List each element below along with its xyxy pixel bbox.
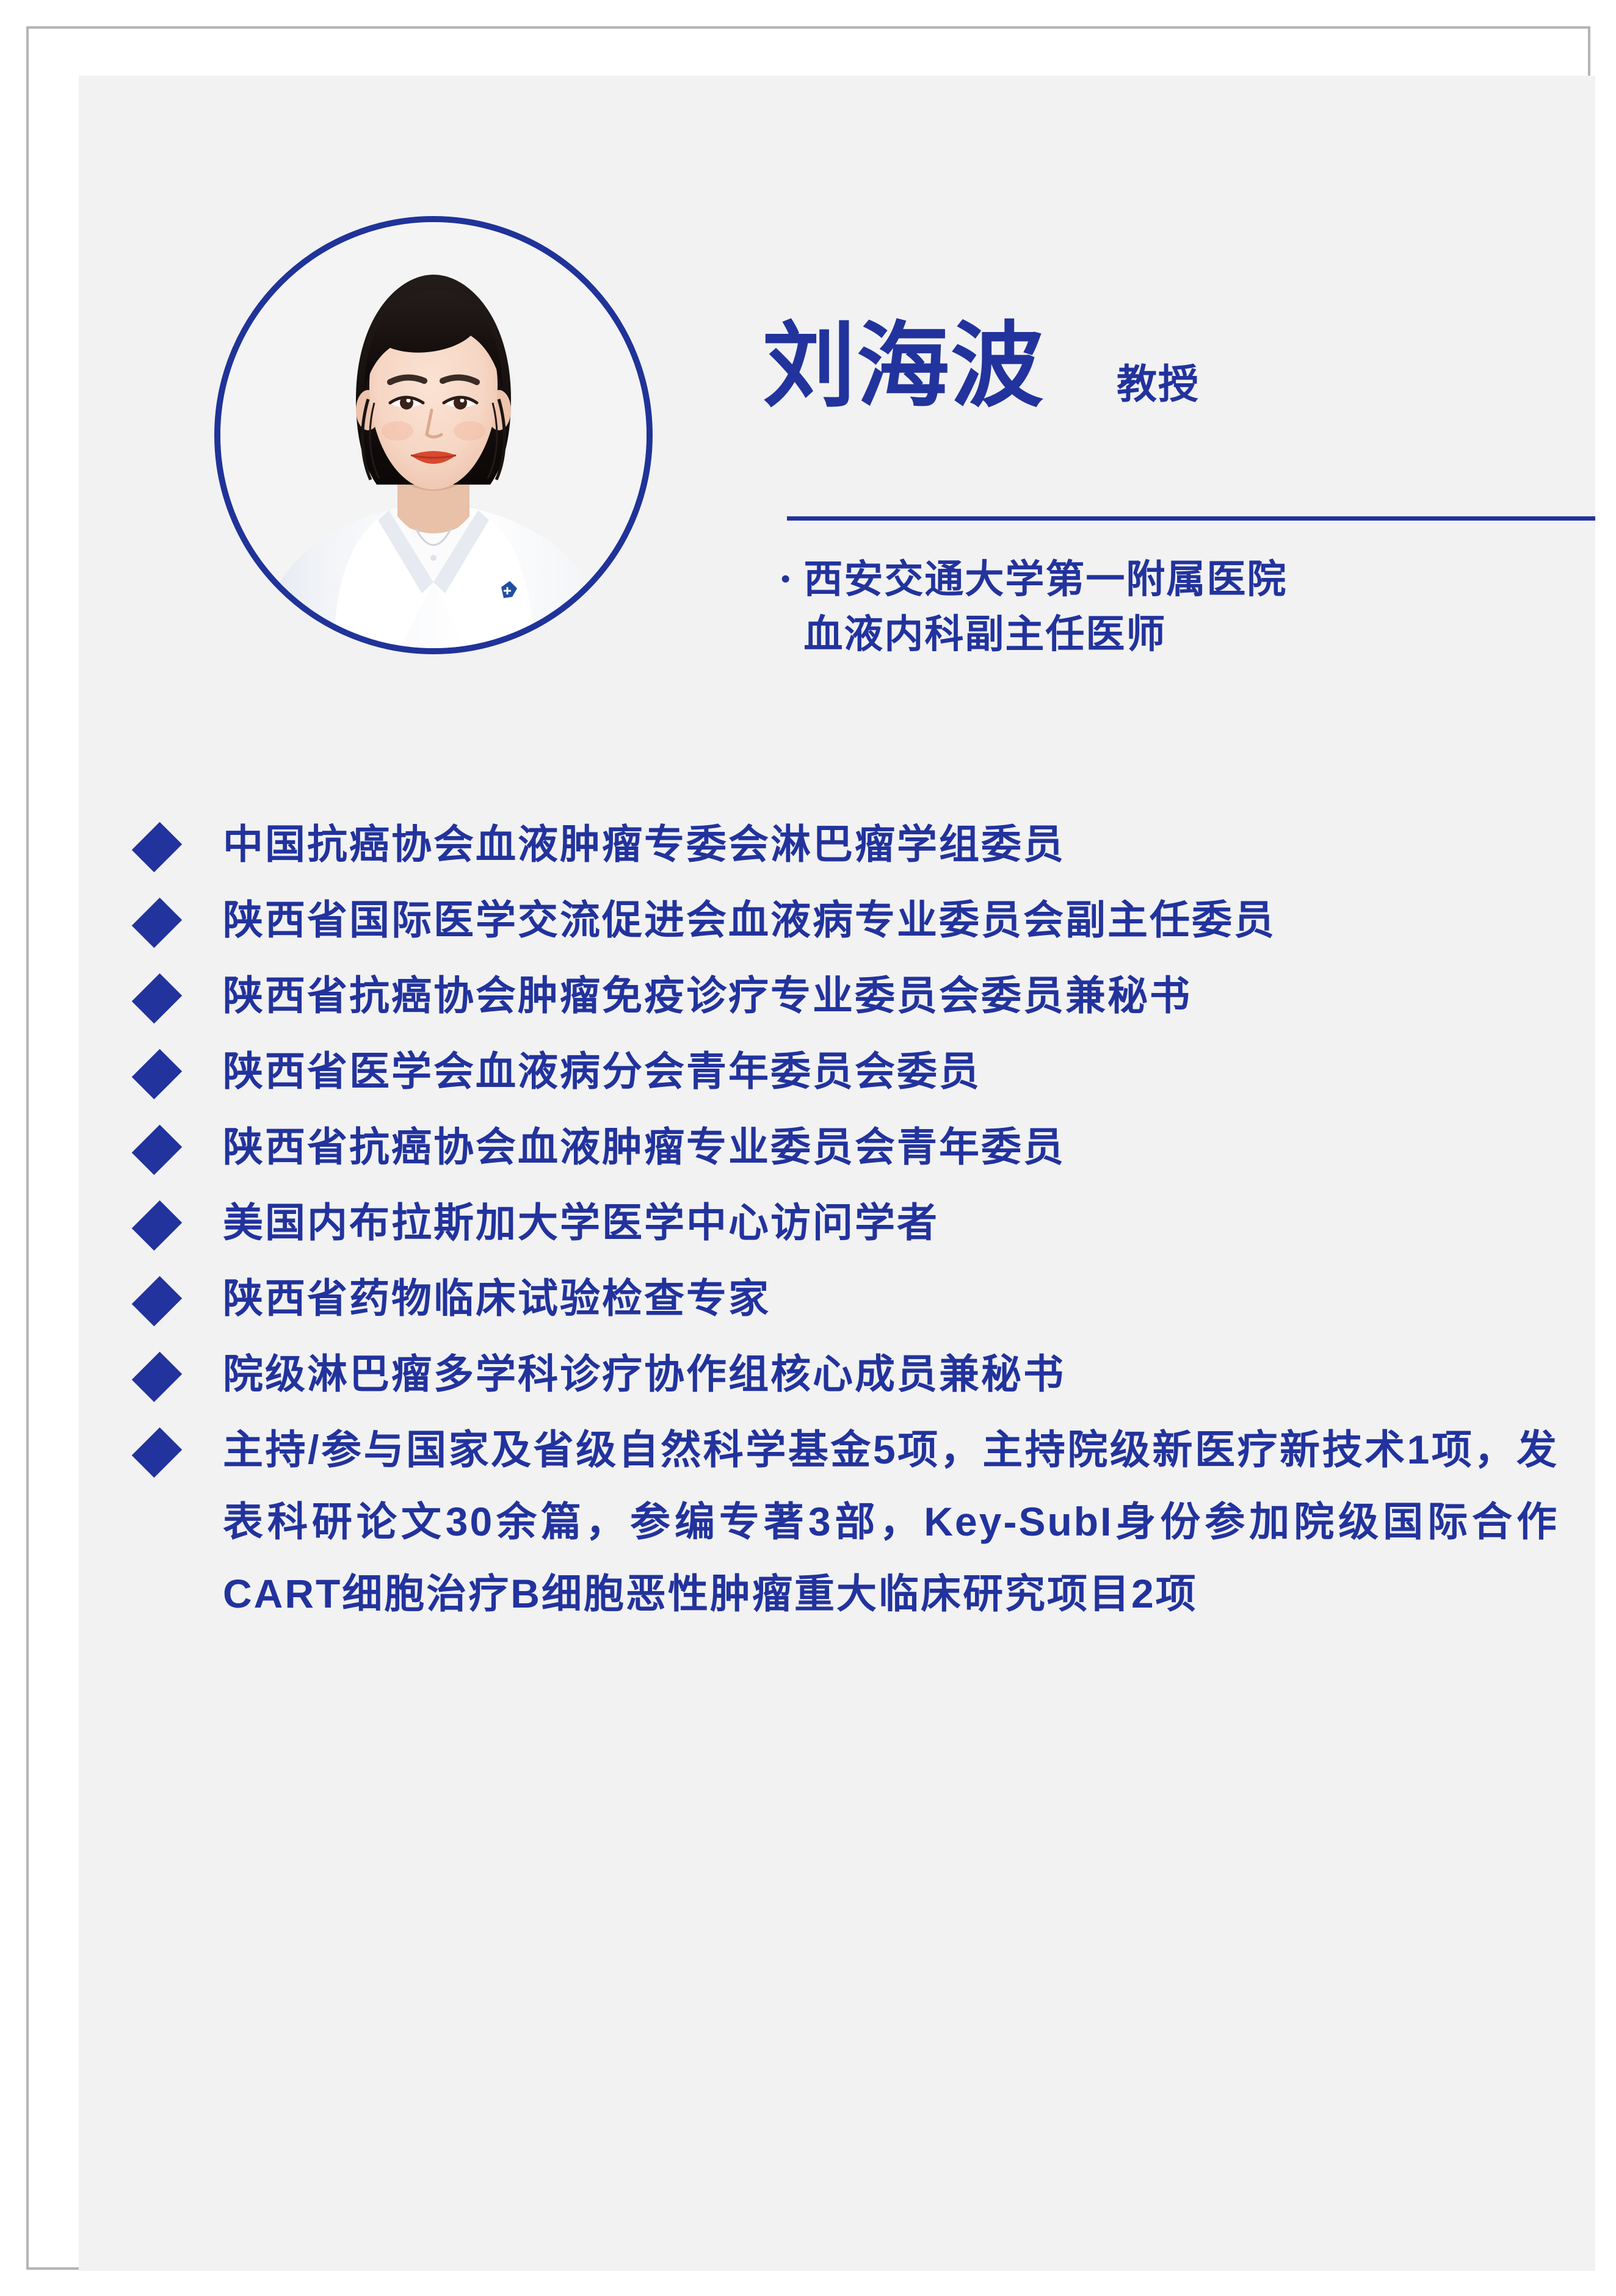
name-row: 刘海波 教授	[763, 320, 1574, 485]
diamond-bullet-icon	[132, 822, 182, 872]
diamond-bullet-icon	[132, 898, 182, 948]
doctor-portrait-photo	[214, 216, 653, 654]
credential-list: 中国抗癌协会血液肿瘤专委会淋巴瘤学组委员 陕西省国际医学交流促进会血液病专业委员…	[79, 808, 1595, 1633]
name-block: 刘海波 教授 • 西安交通大学第一附属医院 血液内科副主任医师	[763, 320, 1574, 485]
credential-text: 陕西省抗癌协会肿瘤免疫诊疗专业委员会委员兼秘书	[223, 959, 1595, 1031]
list-item: 陕西省抗癌协会肿瘤免疫诊疗专业委员会委员兼秘书	[79, 959, 1595, 1031]
affiliation-block: • 西安交通大学第一附属医院 血液内科副主任医师	[781, 552, 1287, 662]
credential-text: 院级淋巴瘤多学科诊疗协作组核心成员兼秘书	[223, 1338, 1595, 1410]
credential-text: 主持/参与国家及省级自然科学基金5项，主持院级新医疗新技术1项，发表科研论文30…	[223, 1413, 1595, 1630]
doctor-rank-title: 教授	[1117, 364, 1200, 404]
list-item: 院级淋巴瘤多学科诊疗协作组核心成员兼秘书	[79, 1338, 1595, 1410]
list-item: 陕西省医学会血液病分会青年委员会委员	[79, 1035, 1595, 1107]
doctor-profile-card: 刘海波 教授 • 西安交通大学第一附属医院 血液内科副主任医师 中国抗癌协会血液…	[79, 76, 1595, 2271]
name-divider-rule	[787, 516, 1595, 521]
doctor-name: 刘海波	[763, 320, 1045, 413]
diamond-bullet-icon	[132, 973, 182, 1023]
diamond-bullet-icon	[132, 1276, 182, 1326]
list-item: 陕西省抗癌协会血液肿瘤专业委员会青年委员	[79, 1111, 1595, 1183]
diamond-bullet-icon	[132, 1125, 182, 1175]
list-item: 陕西省国际医学交流促进会血液病专业委员会副主任委员	[79, 884, 1595, 956]
portrait-circle-frame	[214, 216, 653, 654]
poster-outer-frame: 刘海波 教授 • 西安交通大学第一附属医院 血液内科副主任医师 中国抗癌协会血液…	[26, 26, 1590, 2270]
list-item: 陕西省药物临床试验检查专家	[79, 1262, 1595, 1334]
credential-text: 中国抗癌协会血液肿瘤专委会淋巴瘤学组委员	[223, 808, 1595, 880]
list-item: 中国抗癌协会血液肿瘤专委会淋巴瘤学组委员	[79, 808, 1595, 880]
credential-text: 陕西省抗癌协会血液肿瘤专业委员会青年委员	[223, 1111, 1595, 1183]
credential-text: 美国内布拉斯加大学医学中心访问学者	[223, 1186, 1595, 1258]
credential-text: 陕西省医学会血液病分会青年委员会委员	[223, 1035, 1595, 1107]
list-item: 美国内布拉斯加大学医学中心访问学者	[79, 1186, 1595, 1258]
credential-text: 陕西省药物临床试验检查专家	[223, 1262, 1595, 1334]
affiliation-text: 西安交通大学第一附属医院 血液内科副主任医师	[803, 552, 1287, 662]
diamond-bullet-icon	[132, 1352, 182, 1402]
affiliation-line-2: 血液内科副主任医师	[803, 612, 1166, 656]
diamond-bullet-icon	[132, 1200, 182, 1251]
bullet-dot-icon: •	[781, 552, 790, 607]
credential-text: 陕西省国际医学交流促进会血液病专业委员会副主任委员	[223, 884, 1595, 956]
diamond-bullet-icon	[132, 1049, 182, 1099]
list-item: 主持/参与国家及省级自然科学基金5项，主持院级新医疗新技术1项，发表科研论文30…	[79, 1413, 1595, 1630]
diamond-bullet-icon	[132, 1428, 182, 1478]
affiliation-line-1: 西安交通大学第一附属医院	[803, 557, 1287, 601]
profile-header: 刘海波 教授 • 西安交通大学第一附属医院 血液内科副主任医师	[79, 76, 1595, 765]
